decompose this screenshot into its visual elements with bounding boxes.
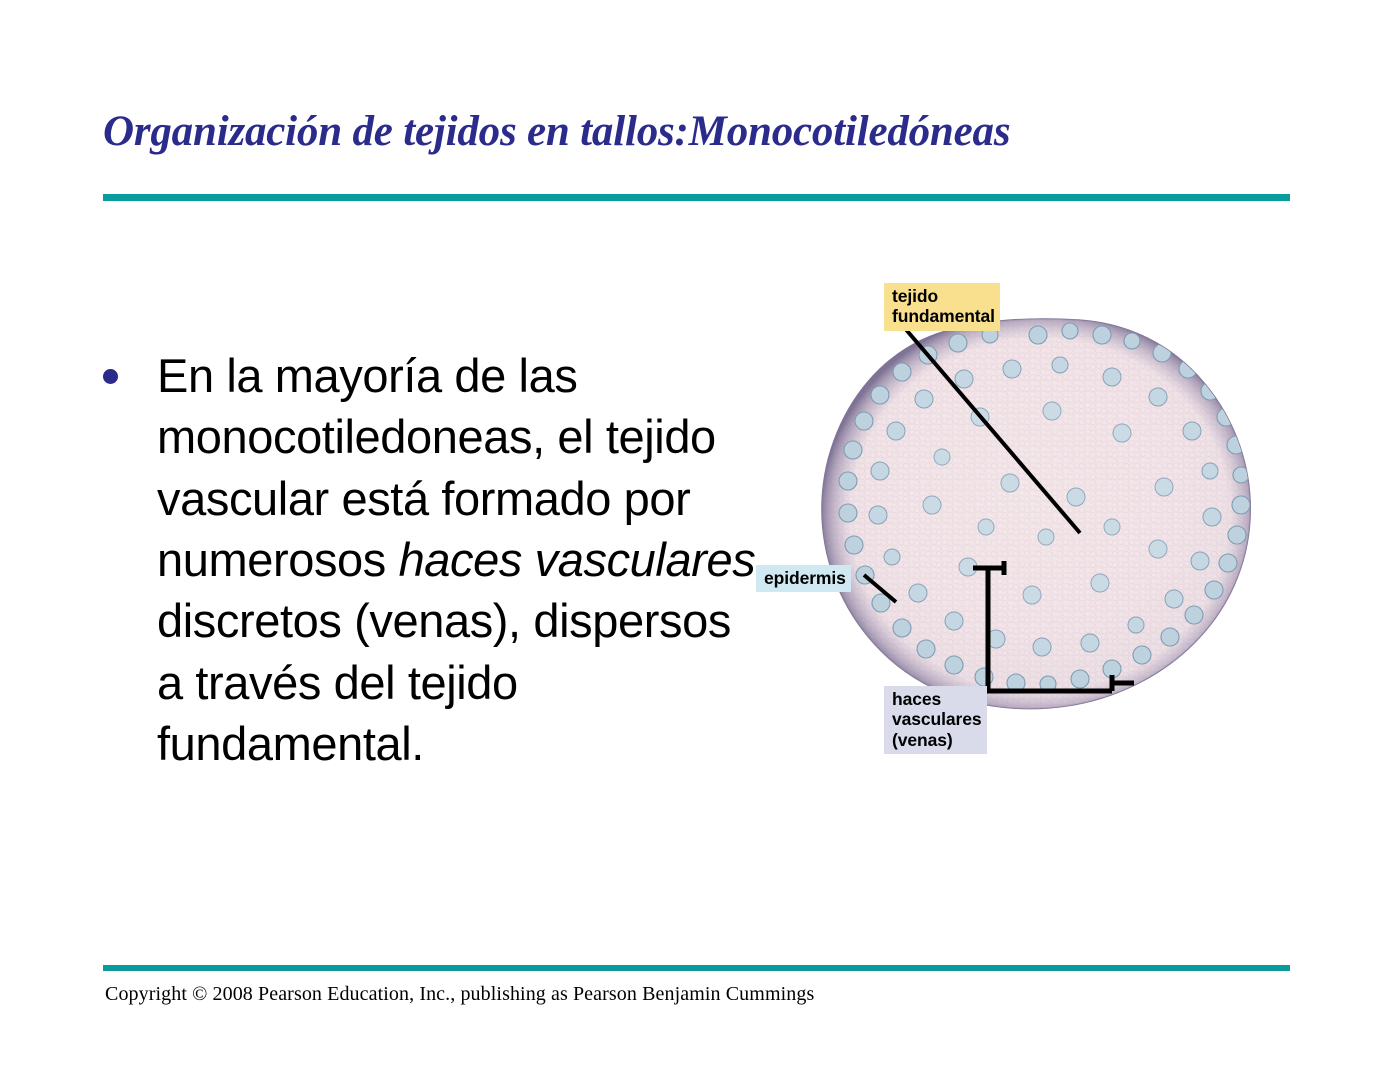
list-item: En la mayoría de las monocotiledoneas, e… [103, 345, 763, 774]
stem-cross-section-image [760, 265, 1290, 755]
bullet-text: En la mayoría de las monocotiledoneas, e… [157, 345, 763, 774]
footer-divider [103, 965, 1290, 971]
bullet-text-emphasis: haces vasculares [399, 533, 756, 586]
figure-label-epidermis: epidermis [756, 565, 851, 592]
bullet-text-part-2: discretos (venas), dispersos a través de… [157, 594, 731, 770]
figure-label-haces-vasculares: haces vasculares (venas) [884, 686, 987, 754]
copyright-notice: Copyright © 2008 Pearson Education, Inc.… [105, 983, 814, 1006]
title-divider [103, 194, 1290, 201]
bullet-dot-icon [103, 369, 118, 384]
page-title: Organización de tejidos en tallos:Monoco… [103, 108, 1303, 155]
figure-label-tejido-fundamental: tejido fundamental [884, 283, 1000, 331]
stem-cross-section-figure [760, 265, 1290, 755]
body-content: En la mayoría de las monocotiledoneas, e… [103, 345, 763, 774]
